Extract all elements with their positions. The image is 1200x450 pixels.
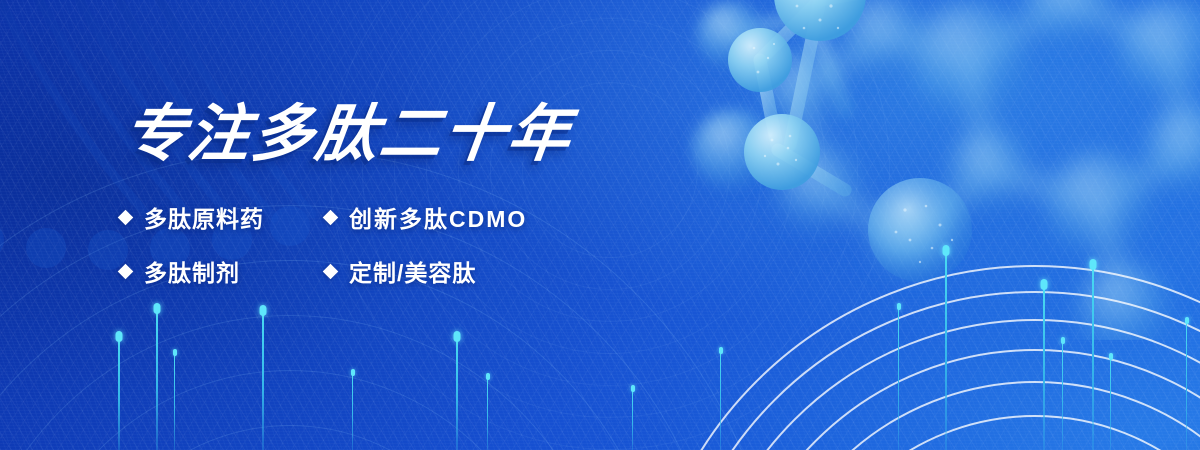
feature-item-innovative-peptide-cdmo[interactable]: 创新多肽CDMO — [325, 200, 740, 234]
banner-content: 专注多肽二十年 多肽原料药 创新多肽CDMO 多肽制剂 定制/美容肽 — [120, 104, 740, 288]
feature-label: 多肽制剂 — [144, 254, 240, 288]
diamond-bullet-icon — [118, 209, 134, 225]
banner-headline: 专注多肽二十年 — [120, 104, 748, 166]
feature-label: 多肽原料药 — [144, 200, 264, 234]
diamond-bullet-icon — [323, 263, 339, 279]
feature-item-peptide-formulation[interactable]: 多肽制剂 — [120, 254, 325, 288]
diamond-bullet-icon — [323, 209, 339, 225]
promo-banner: 专注多肽二十年 多肽原料药 创新多肽CDMO 多肽制剂 定制/美容肽 — [0, 0, 1200, 450]
diamond-bullet-icon — [118, 263, 134, 279]
feature-item-custom-cosmetic-peptide[interactable]: 定制/美容肽 — [325, 254, 740, 288]
feature-bullet-list: 多肽原料药 创新多肽CDMO 多肽制剂 定制/美容肽 — [120, 200, 740, 288]
feature-label: 定制/美容肽 — [349, 254, 476, 288]
feature-label: 创新多肽CDMO — [349, 200, 527, 234]
feature-item-peptide-api[interactable]: 多肽原料药 — [120, 200, 325, 234]
